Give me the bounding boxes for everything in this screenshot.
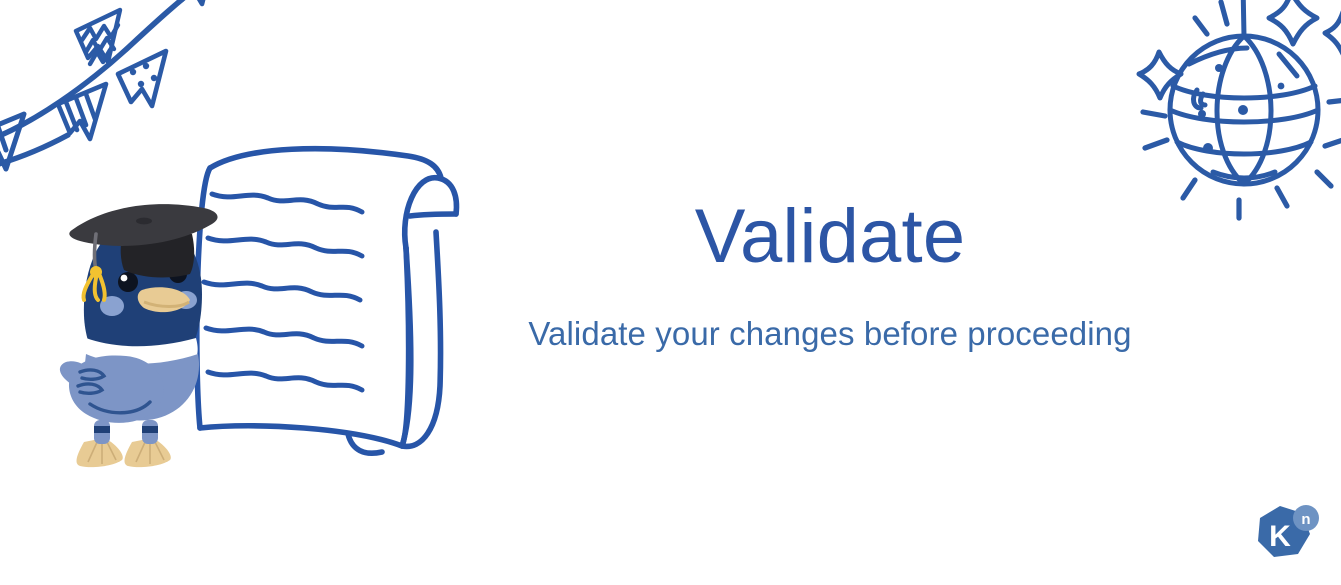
mascot-beak [138,287,190,312]
mascot-collar [86,338,198,364]
mascot-cheek [175,291,197,309]
bunting-flag [118,51,166,106]
logo-letter-k: K [1269,520,1291,553]
diploma-scroll-icon [186,128,468,458]
mascot-cap-tassel [83,266,104,300]
bunting-flag [76,10,120,64]
kn-logo: K n [1250,502,1324,572]
sparkle-icon [1139,0,1341,98]
bunting-flag [170,0,216,4]
party-bunting-icon [0,0,234,187]
mascot-eyes [118,265,187,292]
slide-text-block: Validate Validate your changes before pr… [468,196,1192,354]
bunting-flag [0,114,24,169]
page-subtitle: Validate your changes before proceeding [468,314,1192,354]
mascot-feet [77,420,171,467]
graduate-duck-mascot [56,190,236,472]
page-title: Validate [468,196,1192,278]
mascot-body [84,220,202,381]
mascot-wing [69,355,164,422]
mascot-cheek [100,296,124,316]
logo-letter-n: n [1301,511,1310,528]
scroll-text-lines [204,194,362,390]
mascot-graduation-cap [69,204,217,300]
bunting-flag [58,84,106,139]
slide-canvas: Validate Validate your changes before pr… [0,0,1341,585]
